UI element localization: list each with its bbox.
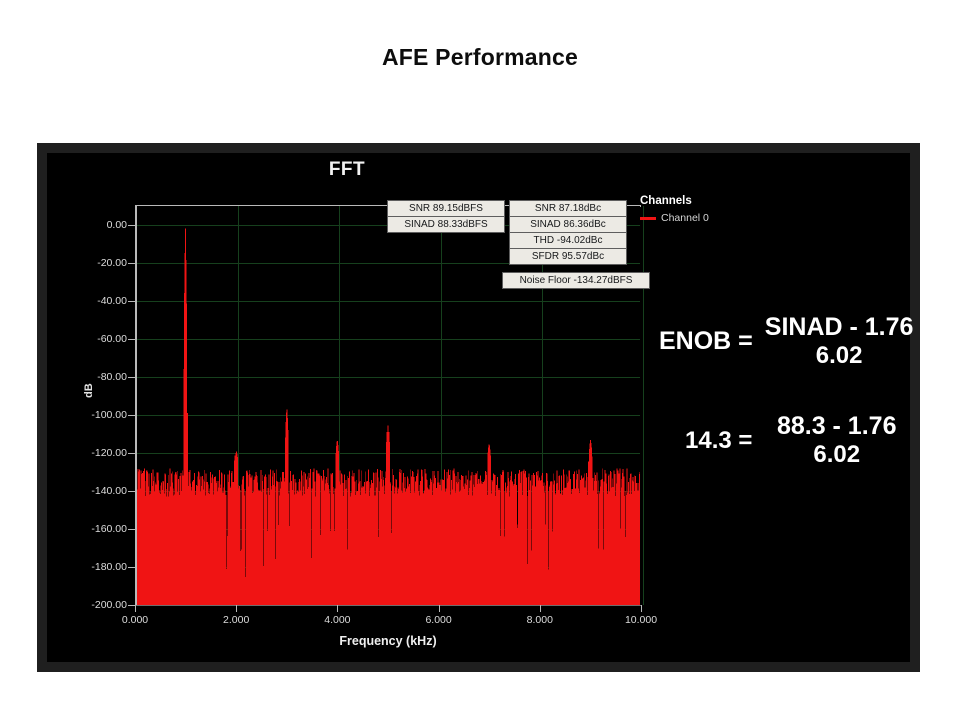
x-axis-tick-mark <box>337 605 338 612</box>
enob-value-lhs: 14.3 = <box>685 427 752 455</box>
enob-denominator: 6.02 <box>816 339 863 369</box>
gridline-vertical <box>643 206 644 605</box>
y-axis-tick-label: -60.00 <box>53 333 127 345</box>
enob-lhs: ENOB = <box>659 327 753 356</box>
x-axis-tick-mark <box>641 605 642 612</box>
legend-item-label: Channel 0 <box>661 212 709 224</box>
x-axis-tick-label: 6.000 <box>404 614 474 626</box>
enob-equation-symbolic: ENOB = SINAD - 1.76 6.02 <box>659 313 909 370</box>
y-axis-tick-mark <box>128 301 135 302</box>
y-axis-tick-label: -200.00 <box>53 599 127 611</box>
x-axis-tick-mark <box>135 605 136 612</box>
enob-value-denominator: 6.02 <box>813 438 860 468</box>
y-axis-label: dB <box>83 383 95 398</box>
x-axis-label: Frequency (kHz) <box>135 634 641 648</box>
y-axis-tick-label: -160.00 <box>53 523 127 535</box>
x-axis-tick-mark <box>236 605 237 612</box>
y-axis-tick-label: 0.00 <box>53 219 127 231</box>
page-title: AFE Performance <box>0 44 960 71</box>
chart-panel-inner: FFT dB Frequency (kHz) 0.00-20.00-40.00-… <box>47 153 910 662</box>
x-axis-tick-label: 0.000 <box>100 614 170 626</box>
legend-item-channel-0[interactable]: Channel 0 <box>640 212 760 224</box>
measurement-readout: SINAD 88.33dBFS <box>387 216 505 233</box>
measurement-column-primary: SNR 89.15dBFSSINAD 88.33dBFS <box>387 200 505 233</box>
measurement-readout: SINAD 86.36dBc <box>509 216 627 233</box>
legend-title: Channels <box>640 195 760 207</box>
legend: Channels Channel 0 <box>640 195 760 224</box>
y-axis-tick-label: -80.00 <box>53 371 127 383</box>
y-axis-tick-mark <box>128 605 135 606</box>
chart-title: FFT <box>47 159 647 181</box>
measurement-readout: SNR 89.15dBFS <box>387 200 505 217</box>
x-axis-tick-mark <box>439 605 440 612</box>
spectrum-svg <box>137 206 640 605</box>
fft-chart: FFT dB Frequency (kHz) 0.00-20.00-40.00-… <box>47 153 657 662</box>
measurement-column-secondary: SNR 87.18dBcSINAD 86.36dBcTHD -94.02dBcS… <box>509 200 627 265</box>
y-axis-tick-mark <box>128 567 135 568</box>
x-axis-tick-label: 10.000 <box>606 614 676 626</box>
y-axis-tick-label: -180.00 <box>53 561 127 573</box>
y-axis-tick-label: -120.00 <box>53 447 127 459</box>
legend-color-swatch <box>640 217 656 220</box>
y-axis-tick-mark <box>128 491 135 492</box>
y-axis-tick-label: -40.00 <box>53 295 127 307</box>
enob-value-fraction: 88.3 - 1.76 6.02 <box>764 412 909 469</box>
enob-equation-numeric: 14.3 = 88.3 - 1.76 6.02 <box>659 412 909 469</box>
y-axis-tick-mark <box>128 263 135 264</box>
y-axis-tick-mark <box>128 377 135 378</box>
measurement-readout: THD -94.02dBc <box>509 232 627 249</box>
x-axis-tick-label: 8.000 <box>505 614 575 626</box>
y-axis-tick-mark <box>128 529 135 530</box>
y-axis-tick-mark <box>128 415 135 416</box>
measurement-noise-floor: Noise Floor -134.27dBFS <box>502 272 650 289</box>
spectrum-trace <box>137 206 640 605</box>
measurement-readout: SNR 87.18dBc <box>509 200 627 217</box>
measurement-readout: Noise Floor -134.27dBFS <box>502 272 650 289</box>
y-axis-tick-mark <box>128 453 135 454</box>
y-axis-tick-label: -100.00 <box>53 409 127 421</box>
enob-formula: ENOB = SINAD - 1.76 6.02 14.3 = 88.3 - 1… <box>659 313 909 469</box>
enob-fraction: SINAD - 1.76 6.02 <box>759 313 920 370</box>
y-axis-tick-mark <box>128 339 135 340</box>
chart-panel: FFT dB Frequency (kHz) 0.00-20.00-40.00-… <box>37 143 920 672</box>
plot-bottom-axis <box>135 605 641 606</box>
y-axis-tick-label: -140.00 <box>53 485 127 497</box>
x-axis-tick-label: 2.000 <box>201 614 271 626</box>
x-axis-tick-label: 4.000 <box>302 614 372 626</box>
y-axis-tick-label: -20.00 <box>53 257 127 269</box>
y-axis-tick-mark <box>128 225 135 226</box>
x-axis-tick-mark <box>540 605 541 612</box>
measurement-readout: SFDR 95.57dBc <box>509 248 627 265</box>
